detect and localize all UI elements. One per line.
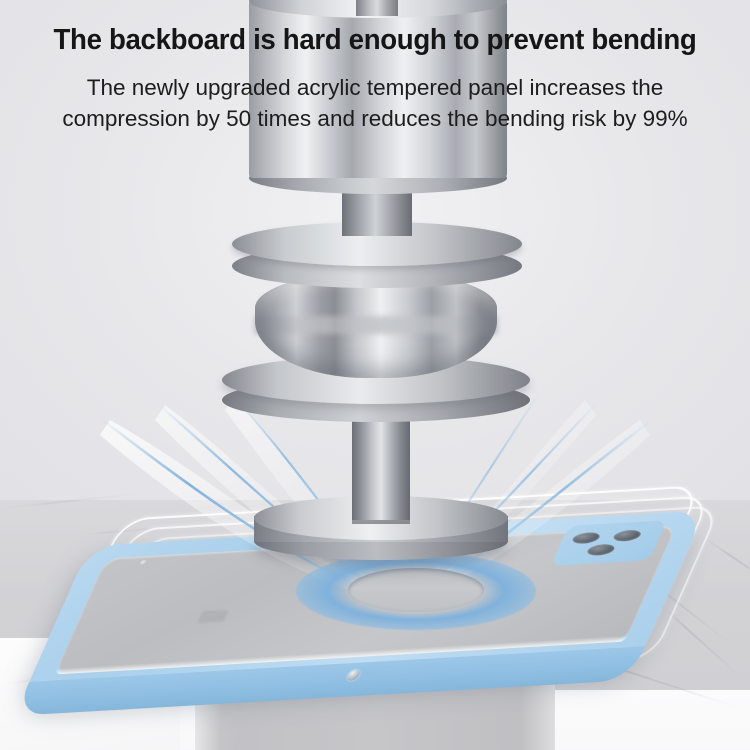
subtitle-text: The newly upgraded acrylic tempered pane… [34,72,716,134]
page-title: The backboard is hard enough to prevent … [11,24,739,57]
contact-halo-center [348,568,484,612]
barrel-reflection-band [255,316,497,334]
product-feature-image: The backboard is hard enough to prevent … [0,0,750,750]
top-shaft [356,0,398,16]
contact-halo [296,552,536,630]
